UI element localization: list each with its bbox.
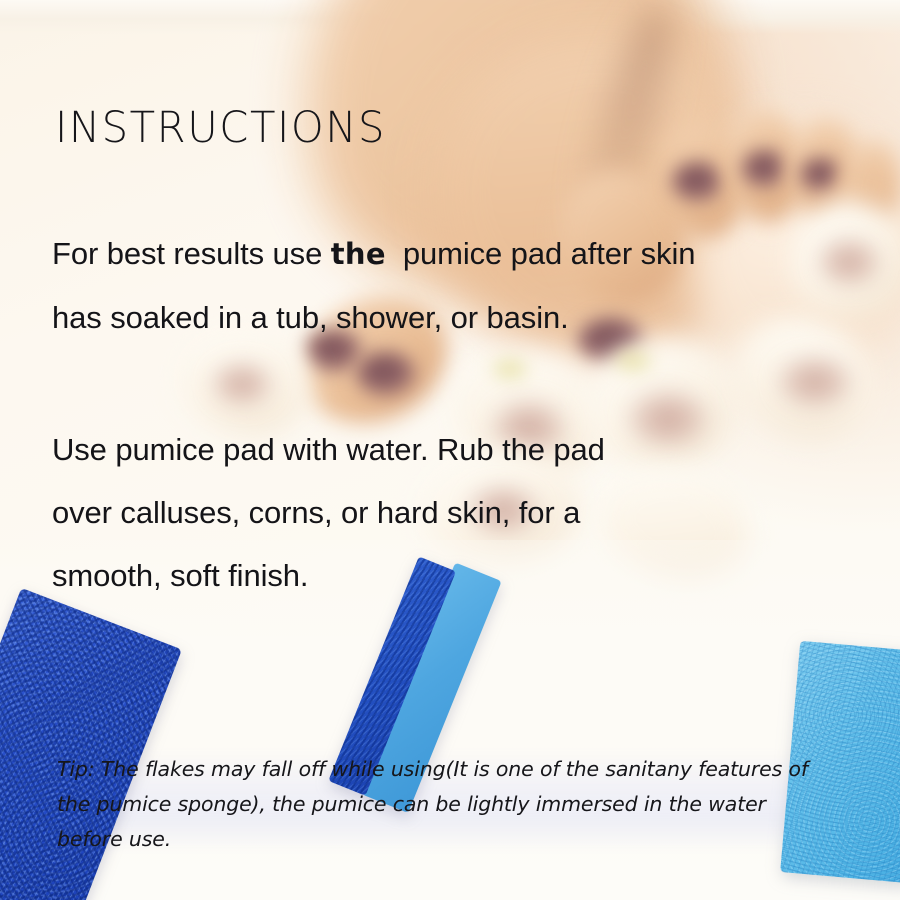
- paragraph-1-line-2: has soaked in a tub, shower, or basin.: [52, 286, 695, 349]
- paragraph-2-line-3: smooth, soft finish.: [52, 544, 605, 607]
- paragraph-1-line-1-part-a: For best results use: [52, 236, 331, 271]
- petal-core-d: [818, 238, 880, 286]
- paragraph-1-emphasis-word: the: [331, 237, 386, 271]
- page-title: INSTRUCTIONS: [55, 103, 386, 153]
- petal-core-c: [778, 356, 852, 408]
- petal-tip-a: [490, 356, 530, 382]
- tip-line-2: the pumice sponge), the pumice can be li…: [57, 787, 847, 822]
- toenail-second: [672, 162, 724, 202]
- petal-core-b: [628, 390, 708, 448]
- instructions-paragraph-1: For best results use the pumice pad afte…: [52, 222, 695, 349]
- toenail-fourth: [800, 158, 842, 192]
- toenail-lower-b: [356, 352, 416, 396]
- tip-line-1: Tip: The flakes may fall off while using…: [57, 752, 847, 787]
- instructions-image: INSTRUCTIONS For best results use the pu…: [0, 0, 900, 900]
- petal-tip-b: [612, 348, 654, 374]
- paragraph-2-line-1: Use pumice pad with water. Rub the pad: [52, 418, 605, 481]
- paragraph-2-line-2: over calluses, corns, or hard skin, for …: [52, 481, 605, 544]
- paragraph-1-line-1-part-b: pumice pad after skin: [386, 236, 696, 271]
- toenail-third: [742, 150, 788, 188]
- paragraph-1-line-1: For best results use the pumice pad afte…: [52, 222, 695, 286]
- tip-note: Tip: The flakes may fall off while using…: [57, 752, 847, 857]
- instructions-paragraph-2: Use pumice pad with water. Rub the pad o…: [52, 418, 605, 607]
- petal-core-e: [212, 362, 272, 406]
- tip-line-3: before use.: [57, 822, 847, 857]
